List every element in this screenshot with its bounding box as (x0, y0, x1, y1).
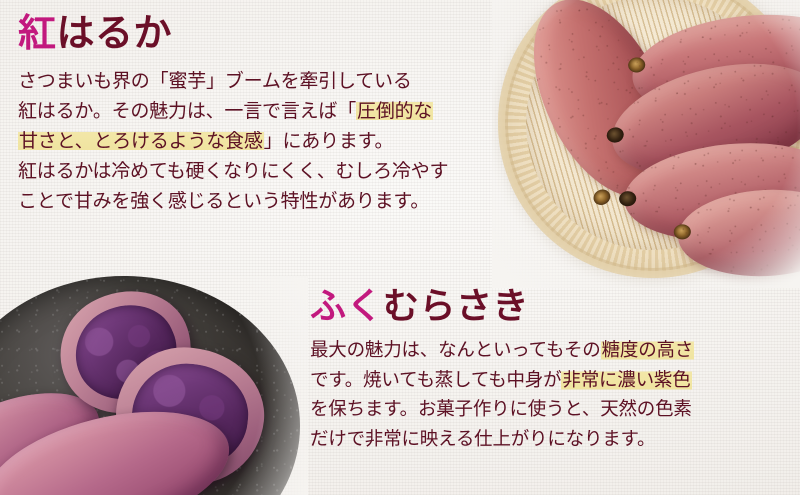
text-run: 」にあります。 (264, 130, 394, 152)
body-line: です。焼いても蒸しても中身が非常に濃い紫色 (310, 366, 790, 396)
text-run: だけで非常に映える仕上がりになります。 (310, 429, 655, 450)
poster-canvas: 紅はるか さつまいも界の「蜜芋」ブームを牽引している紅はるか。その魅力は、一言で… (0, 0, 800, 495)
text-run: です。焼いても蒸しても中身が (310, 370, 561, 391)
body-line: さつまいも界の「蜜芋」ブームを牽引している (18, 66, 498, 96)
highlighted-phrase: 糖度の高さ (601, 340, 695, 361)
headline-accent: 紅 (18, 10, 57, 55)
headline-rest: はるか (57, 10, 173, 55)
body-line: 甘さと、とろけるような食感」にあります。 (18, 126, 498, 156)
potato-tip (673, 224, 691, 240)
text-run: 紅はるかは冷めても硬くなりにくく、むしろ冷やす (18, 160, 448, 182)
headline-rest: むらさき (383, 285, 529, 327)
headline-fukumurasaki: ふくむらさき (310, 288, 790, 324)
potato-tip (619, 190, 637, 206)
body-line: 紅はるか。その魅力は、一言で言えば「圧倒的な (18, 96, 498, 126)
text-run: 紅はるか。その魅力は、一言で言えば「 (18, 100, 356, 122)
potato-tip (627, 57, 645, 74)
text-run: を保ちます。お菓子作りに使うと、天然の色素 (310, 399, 692, 420)
photo-purple-sweet-potatoes-on-slate-plate (0, 276, 308, 495)
section-fukumurasaki: ふくむらさき 最大の魅力は、なんといってもその糖度の高さです。焼いても蒸しても中… (310, 288, 790, 454)
body-line: ことで甘みを強く感じるという特性があります。 (18, 186, 498, 216)
text-run: 最大の魅力は、なんといってもその (310, 340, 601, 361)
section-beniharuka: 紅はるか さつまいも界の「蜜芋」ブームを牽引している紅はるか。その魅力は、一言で… (18, 14, 498, 216)
body-copy-beniharuka: さつまいも界の「蜜芋」ブームを牽引している紅はるか。その魅力は、一言で言えば「圧… (18, 66, 498, 216)
text-run: さつまいも界の「蜜芋」ブームを牽引している (18, 70, 412, 92)
body-line: だけで非常に映える仕上がりになります。 (310, 425, 790, 455)
headline-accent: ふく (310, 285, 383, 327)
highlighted-phrase: 甘さと、とろけるような食感 (18, 130, 264, 152)
text-run: ことで甘みを強く感じるという特性があります。 (18, 190, 429, 212)
body-copy-fukumurasaki: 最大の魅力は、なんといってもその糖度の高さです。焼いても蒸しても中身が非常に濃い… (310, 336, 790, 454)
body-line: 最大の魅力は、なんといってもその糖度の高さ (310, 336, 790, 366)
body-line: を保ちます。お菓子作りに使うと、天然の色素 (310, 395, 790, 425)
highlighted-phrase: 非常に濃い紫色 (561, 370, 691, 391)
body-line: 紅はるかは冷めても硬くなりにくく、むしろ冷やす (18, 156, 498, 186)
highlighted-phrase: 圧倒的な (356, 100, 433, 122)
photo-red-sweet-potatoes-in-bamboo-basket (492, 0, 800, 288)
headline-beniharuka: 紅はるか (18, 14, 498, 52)
